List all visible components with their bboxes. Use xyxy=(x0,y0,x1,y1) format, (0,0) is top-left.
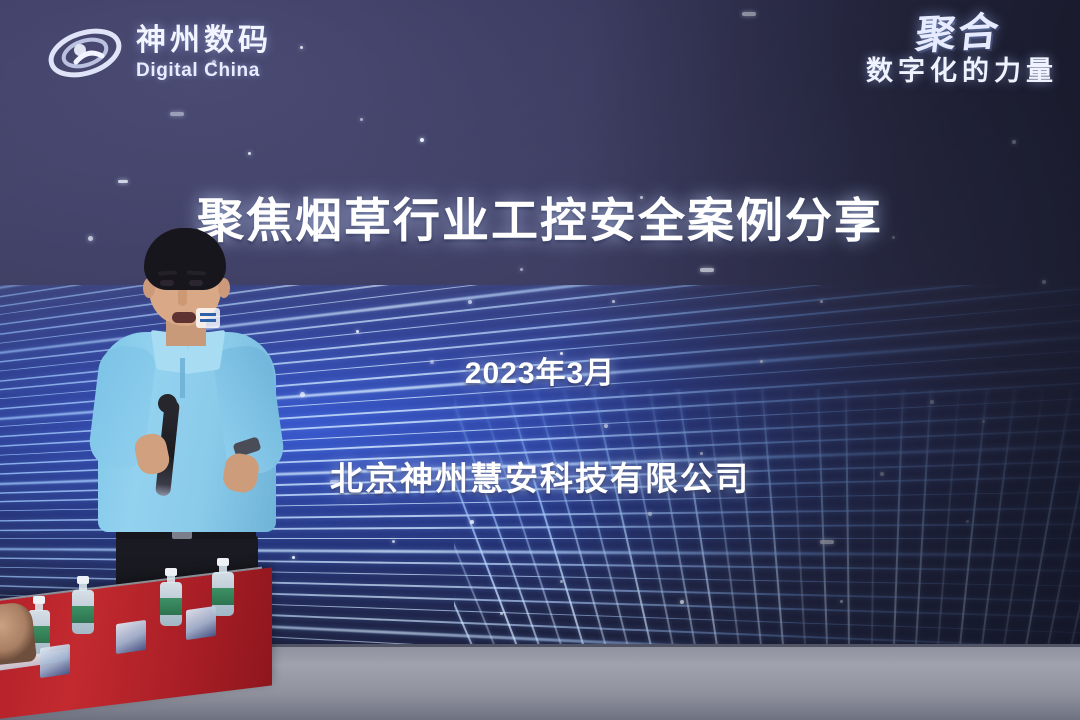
digital-china-logo: 神州数码 Digital China xyxy=(46,22,272,84)
name-card xyxy=(116,620,146,654)
speaker-presenter xyxy=(92,228,282,624)
name-card xyxy=(40,644,70,678)
water-bottle xyxy=(72,576,94,634)
speaker-eye-right xyxy=(189,280,203,286)
speaker-eye-left xyxy=(160,280,174,286)
speaker-mouth xyxy=(172,312,196,323)
event-logo-calligraphy: 聚合 xyxy=(914,14,1002,55)
bottle-label xyxy=(160,598,182,615)
bottle-label xyxy=(72,606,94,623)
foreground-table xyxy=(0,580,272,720)
logo-name-en: Digital China xyxy=(136,61,272,80)
logo-name-cn: 神州数码 xyxy=(136,26,272,56)
speaker-shirt-chest-logo xyxy=(196,308,220,328)
conference-stage-photo: 神州数码 Digital China 聚合 数字化的力量 聚焦烟草行业工控安全案… xyxy=(0,0,1080,720)
event-logo: 聚合 数字化的力量 xyxy=(866,16,1058,88)
speaker-nose xyxy=(178,290,187,306)
speaker-shirt-placket xyxy=(180,358,185,398)
speaker-hair xyxy=(144,228,226,290)
name-card xyxy=(186,606,216,640)
water-bottle xyxy=(160,568,182,626)
bottle-label xyxy=(212,588,234,605)
digital-china-swirl-logo-icon xyxy=(46,22,124,84)
